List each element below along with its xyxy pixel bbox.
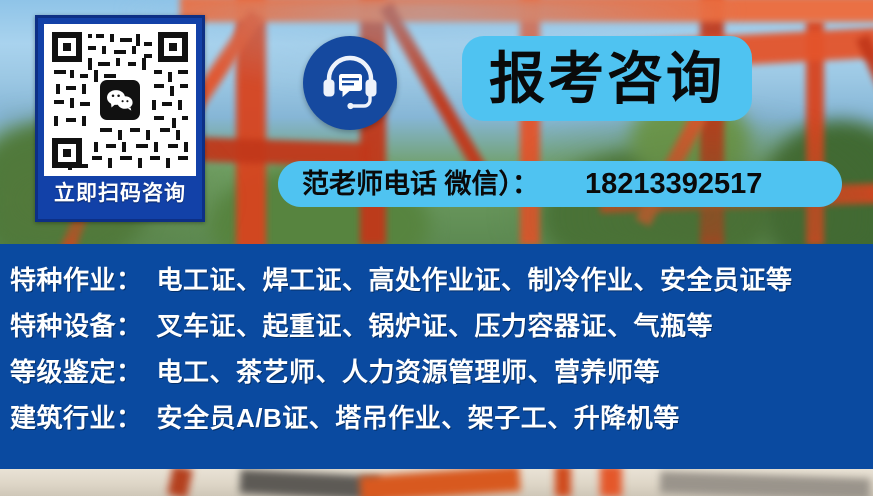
support-badge[interactable] — [303, 36, 397, 130]
photo-shape — [600, 469, 622, 496]
qr-module — [120, 38, 132, 42]
category-row-special-equipment: 特种设备： 叉车证、起重证、锅炉证、压力容器证、气瓶等 — [10, 306, 873, 352]
qr-module — [66, 118, 76, 122]
qr-module — [108, 158, 112, 168]
qr-module — [94, 70, 98, 82]
qr-module — [96, 34, 104, 38]
qr-module — [136, 144, 148, 148]
qr-module — [116, 58, 120, 66]
qr-module — [120, 156, 132, 160]
photo-shape — [660, 471, 871, 496]
qr-module — [78, 164, 88, 168]
qr-module — [118, 130, 122, 140]
headset-support-icon — [320, 54, 380, 112]
qr-module — [168, 72, 172, 82]
category-name: 等级鉴定： — [10, 352, 143, 389]
qr-module — [138, 158, 142, 168]
qr-module — [144, 42, 152, 46]
category-name: 特种作业： — [10, 260, 143, 297]
qr-code-image[interactable] — [44, 24, 196, 176]
qr-module — [178, 100, 182, 110]
qr-module — [184, 142, 188, 152]
qr-module — [166, 158, 170, 168]
qr-module — [82, 84, 86, 94]
qr-module — [180, 84, 188, 88]
crane-beam — [806, 20, 824, 244]
qr-module — [80, 74, 88, 78]
crane-beam — [236, 0, 266, 244]
qr-module — [142, 58, 146, 70]
category-name: 特种设备： — [10, 306, 143, 343]
qr-module — [88, 34, 92, 38]
qr-module — [172, 118, 176, 128]
category-items: 安全员A/B证、塔吊作业、架子工、升降机等 — [157, 398, 680, 435]
qr-module — [102, 46, 106, 54]
qr-module — [70, 98, 74, 108]
qr-module — [56, 84, 60, 94]
qr-module — [80, 102, 90, 106]
page-title: 报考咨询 — [489, 51, 725, 107]
title-badge: 报考咨询 — [462, 36, 752, 121]
qr-module — [92, 156, 102, 160]
category-row-construction-industry: 建筑行业： 安全员A/B证、塔吊作业、架子工、升降机等 — [10, 398, 873, 444]
qr-module — [182, 116, 188, 120]
qr-finder-topleft — [52, 32, 82, 62]
category-name: 建筑行业： — [10, 398, 143, 435]
certificate-categories-panel: 特种作业： 电工证、焊工证、高处作业证、制冷作业、安全员证等 特种设备： 叉车证… — [0, 244, 873, 469]
qr-module — [100, 128, 112, 132]
category-row-grade-assessment: 等级鉴定： 电工、茶艺师、人力资源管理师、营养师等 — [10, 352, 873, 398]
qr-module — [54, 100, 64, 104]
qr-module — [98, 62, 110, 66]
qr-module — [88, 58, 92, 70]
qr-module — [178, 156, 188, 160]
photo-shape — [359, 469, 520, 496]
category-items: 电工、茶艺师、人力资源管理师、营养师等 — [157, 352, 661, 389]
wechat-icon — [100, 80, 140, 120]
qr-module — [130, 128, 140, 132]
qr-module — [82, 116, 86, 126]
qr-module — [54, 116, 58, 126]
photo-shape — [555, 469, 571, 496]
crane-brace — [856, 34, 873, 222]
qr-module — [54, 164, 62, 168]
qr-card-caption: 立即扫码咨询 — [54, 183, 186, 204]
qr-module — [168, 144, 178, 148]
qr-module — [160, 128, 170, 132]
qr-module — [66, 86, 76, 90]
qr-module — [146, 130, 150, 140]
qr-module — [154, 116, 164, 120]
qr-module — [110, 34, 114, 42]
qr-module — [114, 50, 126, 54]
qr-module — [104, 74, 116, 78]
qr-module — [154, 84, 164, 88]
qr-module — [162, 102, 172, 106]
qr-module — [70, 70, 74, 78]
qr-module — [154, 70, 162, 74]
category-items: 叉车证、起重证、锅炉证、压力容器证、气瓶等 — [157, 306, 714, 343]
qr-module — [150, 156, 160, 160]
qr-module — [54, 70, 66, 74]
contact-bar[interactable]: 范老师电话 微信）： 18213392517 — [278, 161, 842, 207]
qr-module — [94, 142, 98, 152]
promo-poster: 立即扫码咨询 报考咨询 范老师电话 微信）： 18213392517 特 — [0, 0, 873, 496]
category-row-special-operations: 特种作业： 电工证、焊工证、高处作业证、制冷作业、安全员证等 — [10, 260, 873, 306]
background-photo-bottom — [0, 469, 873, 496]
qr-module — [106, 144, 116, 148]
qr-module — [132, 46, 136, 54]
photo-shape — [167, 469, 193, 496]
qr-module — [176, 130, 180, 140]
qr-code-card[interactable]: 立即扫码咨询 — [35, 15, 205, 222]
qr-module — [154, 142, 158, 152]
qr-module — [178, 70, 188, 74]
qr-finder-topright — [158, 32, 188, 62]
qr-module — [136, 34, 140, 46]
qr-module — [152, 100, 156, 110]
qr-module — [122, 142, 126, 152]
qr-module — [128, 62, 136, 66]
qr-module — [170, 86, 174, 96]
contact-phone-number[interactable]: 18213392517 — [585, 170, 762, 199]
qr-module — [68, 164, 72, 170]
crane-beam — [180, 0, 873, 22]
qr-module — [88, 46, 96, 50]
category-items: 电工证、焊工证、高处作业证、制冷作业、安全员证等 — [157, 260, 793, 297]
contact-label: 范老师电话 微信）： — [302, 171, 539, 198]
